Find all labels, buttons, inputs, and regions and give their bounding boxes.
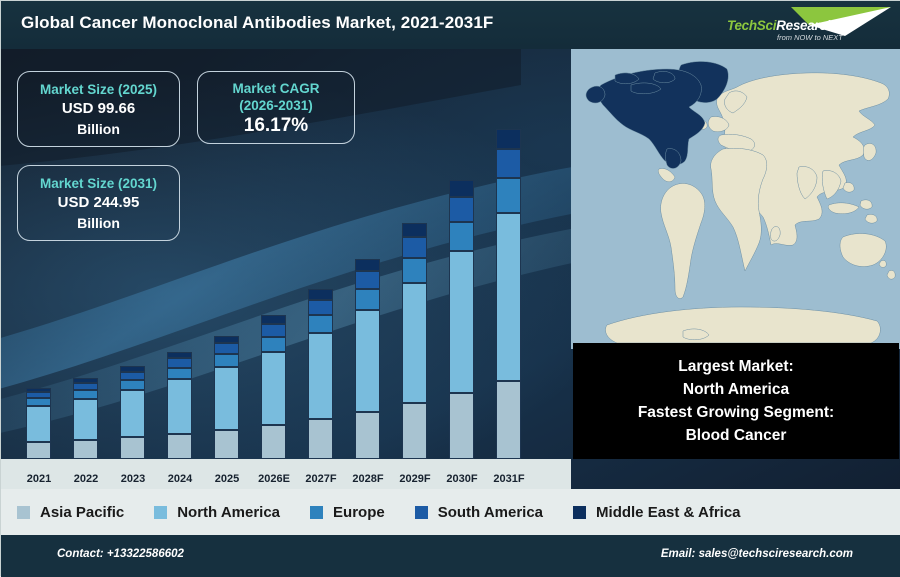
bar-segment-middle-east-africa (355, 259, 380, 271)
logo-brand-second: Research (776, 18, 834, 33)
logo-wordmark: TechSciResearch (727, 18, 835, 33)
callout-line-1: Largest Market: (573, 355, 899, 378)
card-label: Market Size (2025) (18, 81, 179, 99)
footer-email: Email: sales@techsciresearch.com (661, 548, 853, 560)
legend-item-asia-pacific[interactable]: Asia Pacific (17, 504, 124, 521)
legend-item-middle-east-africa[interactable]: Middle East & Africa (573, 504, 740, 521)
x-axis-label-2025: 2025 (204, 473, 250, 485)
x-axis-label-2031F: 2031F (486, 473, 532, 485)
bar-segment-europe (26, 398, 51, 406)
card-unit: Billion (18, 119, 179, 139)
bar-segment-middle-east-africa (261, 315, 286, 324)
x-axis-label-2027F: 2027F (298, 473, 344, 485)
card-market-size-2025: Market Size (2025) USD 99.66 Billion (17, 71, 180, 147)
callout-box: Largest Market: North America Fastest Gr… (573, 343, 899, 459)
callout-line-4: Blood Cancer (573, 424, 899, 447)
bar-segment-north-america (402, 283, 427, 403)
bar-segment-south-america (73, 383, 98, 390)
legend-swatch-icon (573, 506, 586, 519)
bar-segment-north-america (167, 379, 192, 434)
bar-segment-south-america (120, 372, 145, 380)
bar-segment-north-america (308, 333, 333, 420)
bar-segment-north-america (355, 310, 380, 412)
card-value: 16.17% (198, 114, 354, 138)
bar-segment-north-america (214, 367, 239, 430)
bar-segment-middle-east-africa (496, 129, 521, 149)
legend-swatch-icon (415, 506, 428, 519)
bar-segment-middle-east-africa (308, 289, 333, 299)
bar-2023 (120, 366, 145, 459)
bar-segment-europe (308, 315, 333, 333)
legend-item-south-america[interactable]: South America (415, 504, 543, 521)
bar-segment-asia-pacific (26, 442, 51, 459)
bar-segment-europe (402, 258, 427, 283)
bar-segment-north-america (120, 390, 145, 437)
world-map-panel (571, 49, 900, 349)
bar-segment-north-america (449, 251, 474, 393)
bar-segment-asia-pacific (120, 437, 145, 459)
bar-segment-middle-east-africa (402, 223, 427, 237)
legend-label: Middle East & Africa (596, 504, 740, 521)
card-market-size-2031: Market Size (2031) USD 244.95 Billion (17, 165, 180, 241)
bar-segment-north-america (496, 213, 521, 381)
bar-segment-north-america (26, 406, 51, 442)
bar-segment-south-america (167, 358, 192, 368)
bar-segment-south-america (402, 237, 427, 258)
x-axis-label-2030F: 2030F (439, 473, 485, 485)
legend-label: Asia Pacific (40, 504, 124, 521)
legend-label: Europe (333, 504, 385, 521)
legend-swatch-icon (154, 506, 167, 519)
card-label-sub: (2026-2031) (198, 97, 354, 114)
bar-segment-asia-pacific (308, 419, 333, 459)
card-unit: Billion (18, 213, 179, 233)
bar-segment-asia-pacific (355, 412, 380, 459)
bar-segment-europe (167, 368, 192, 379)
card-label: Market CAGR (198, 80, 354, 97)
bar-segment-south-america (214, 343, 239, 354)
x-axis-label-2022: 2022 (63, 473, 109, 485)
header-bar: Global Cancer Monoclonal Antibodies Mark… (1, 1, 900, 49)
legend-label: North America (177, 504, 280, 521)
footer-contact: Contact: +13322586602 (57, 548, 184, 560)
bar-segment-europe (120, 380, 145, 390)
legend-item-north-america[interactable]: North America (154, 504, 280, 521)
bar-2028F (355, 259, 380, 459)
bar-segment-middle-east-africa (214, 336, 239, 343)
bar-2027F (308, 289, 333, 459)
bar-segment-europe (355, 289, 380, 310)
techsci-logo[interactable]: TechSciResearch from NOW to NEXT (721, 4, 893, 46)
bar-segment-europe (449, 222, 474, 251)
x-axis-label-2023: 2023 (110, 473, 156, 485)
x-axis-label-2028F: 2028F (345, 473, 391, 485)
x-axis-label-2026E: 2026E (251, 473, 297, 485)
bar-segment-north-america (261, 352, 286, 426)
bar-2025 (214, 336, 239, 459)
footer-bar: Contact: +13322586602 Email: sales@techs… (1, 535, 900, 577)
bar-segment-south-america (355, 271, 380, 289)
card-value: USD 244.95 (18, 193, 179, 213)
bar-segment-europe (214, 354, 239, 367)
bar-segment-asia-pacific (261, 425, 286, 459)
bar-segment-middle-east-africa (449, 180, 474, 197)
bar-segment-asia-pacific (73, 440, 98, 459)
bar-segment-south-america (261, 324, 286, 337)
legend-label: South America (438, 504, 543, 521)
bar-2024 (167, 352, 192, 459)
bar-segment-asia-pacific (449, 393, 474, 459)
callout-line-2: North America (573, 378, 899, 401)
bar-segment-europe (496, 178, 521, 213)
bar-segment-south-america (496, 149, 521, 178)
bar-segment-south-america (449, 197, 474, 222)
bar-segment-south-america (308, 300, 333, 315)
x-axis-label-2029F: 2029F (392, 473, 438, 485)
infographic-root: Global Cancer Monoclonal Antibodies Mark… (0, 0, 900, 576)
bar-segment-asia-pacific (496, 381, 521, 459)
bar-segment-europe (73, 390, 98, 399)
chart-legend: Asia PacificNorth AmericaEuropeSouth Ame… (1, 489, 900, 535)
bar-2021 (26, 388, 51, 460)
card-value: USD 99.66 (18, 99, 179, 119)
logo-brand-first: TechSci (727, 18, 776, 33)
legend-item-europe[interactable]: Europe (310, 504, 385, 521)
logo-tagline: from NOW to NEXT (777, 33, 843, 42)
card-market-cagr: Market CAGR (2026-2031) 16.17% (197, 71, 355, 144)
bar-2026E (261, 315, 286, 459)
main-stage: 202120222023202420252026E2027F2028F2029F… (1, 49, 900, 489)
bar-2031F (496, 129, 521, 459)
bar-segment-europe (261, 337, 286, 352)
bar-segment-asia-pacific (402, 403, 427, 459)
legend-swatch-icon (17, 506, 30, 519)
legend-swatch-icon (310, 506, 323, 519)
x-axis-label-2021: 2021 (16, 473, 62, 485)
bar-segment-asia-pacific (214, 430, 239, 459)
world-map-icon (571, 49, 900, 349)
bar-segment-north-america (73, 399, 98, 440)
bar-2022 (73, 378, 98, 459)
bar-segment-asia-pacific (167, 434, 192, 459)
bar-2029F (402, 223, 427, 459)
bar-2030F (449, 180, 474, 459)
page-title: Global Cancer Monoclonal Antibodies Mark… (21, 13, 493, 33)
callout-line-3: Fastest Growing Segment: (573, 401, 899, 424)
card-label: Market Size (2031) (18, 175, 179, 193)
x-axis-label-2024: 2024 (157, 473, 203, 485)
